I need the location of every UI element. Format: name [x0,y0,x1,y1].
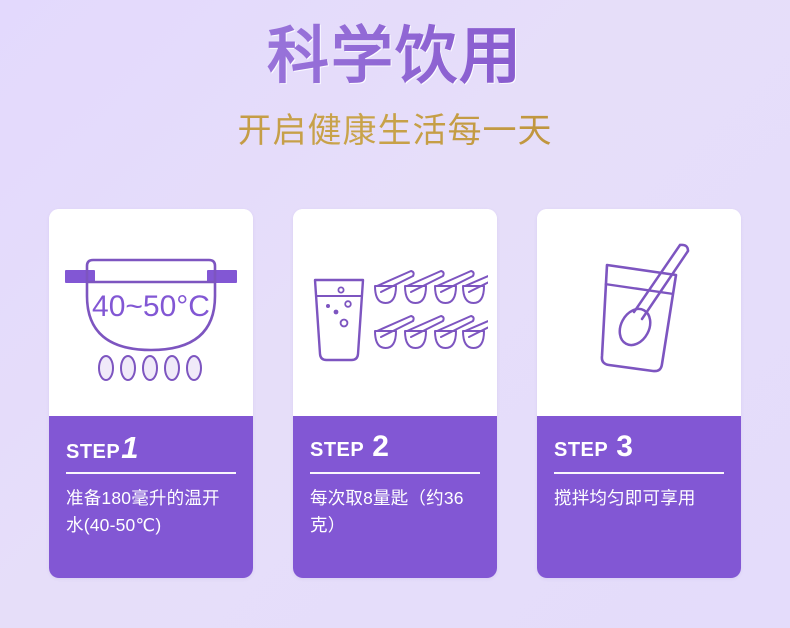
spoon-bowl [613,303,656,350]
step-1-description: 准备180毫升的温开水(40-50℃) [66,485,236,539]
bubble-icon [345,301,351,307]
warm-water-pot-icon: 40~50°C [61,238,241,388]
step-number: 2 [372,432,389,462]
flame-icon [165,356,179,380]
bubble-icon [333,309,338,314]
bubble-icon [340,319,347,326]
cup-body [601,265,675,371]
step-2-heading: STEP 2 [310,432,480,466]
step-1-illustration: 40~50°C [49,209,253,416]
step-3-body: STEP 3 搅拌均匀即可享用 [537,416,741,578]
step-card-3[interactable]: STEP 3 搅拌均匀即可享用 [537,209,741,578]
step-3-illustration [537,209,741,416]
spoon-handle-tip [680,244,688,250]
step-3-description: 搅拌均匀即可享用 [554,485,724,512]
step-1-body: STEP 1 准备180毫升的温开水(40-50℃) [49,416,253,578]
flame-icon [143,356,157,380]
step-label: STEP [66,442,120,462]
step-2-body: STEP 2 每次取8量匙（约36克） [293,416,497,578]
flame-icon [99,356,113,380]
glass-and-scoops-icon [303,238,488,388]
step-divider [310,472,480,474]
flame-icon [121,356,135,380]
spoon-handle [634,245,680,312]
step-label: STEP [554,440,608,460]
steps-container: 40~50°C STEP 1 准备180毫升的温开水(40-50℃) [49,209,741,578]
bubble-icon [326,304,330,308]
step-2-description: 每次取8量匙（约36克） [310,485,480,539]
step-number: 1 [121,432,138,463]
cup-with-spoon-icon [552,233,727,393]
step-number: 3 [616,432,633,462]
step-card-2[interactable]: STEP 2 每次取8量匙（约36克） [293,209,497,578]
step-2-illustration [293,209,497,416]
page-header: 科学饮用 开启健康生活每一天 [0,0,790,152]
spoon-handle [642,251,688,319]
step-card-1[interactable]: 40~50°C STEP 1 准备180毫升的温开水(40-50℃) [49,209,253,578]
step-3-heading: STEP 3 [554,432,724,466]
bubble-icon [338,287,343,292]
step-1-heading: STEP 1 [66,432,236,466]
step-label: STEP [310,440,364,460]
page-title: 科学饮用 [0,22,790,91]
flame-icon [187,356,201,380]
pot-temperature-label: 40~50°C [92,290,210,323]
step-divider [66,472,236,474]
page-subtitle: 开启健康生活每一天 [0,103,790,152]
step-divider [554,472,724,474]
